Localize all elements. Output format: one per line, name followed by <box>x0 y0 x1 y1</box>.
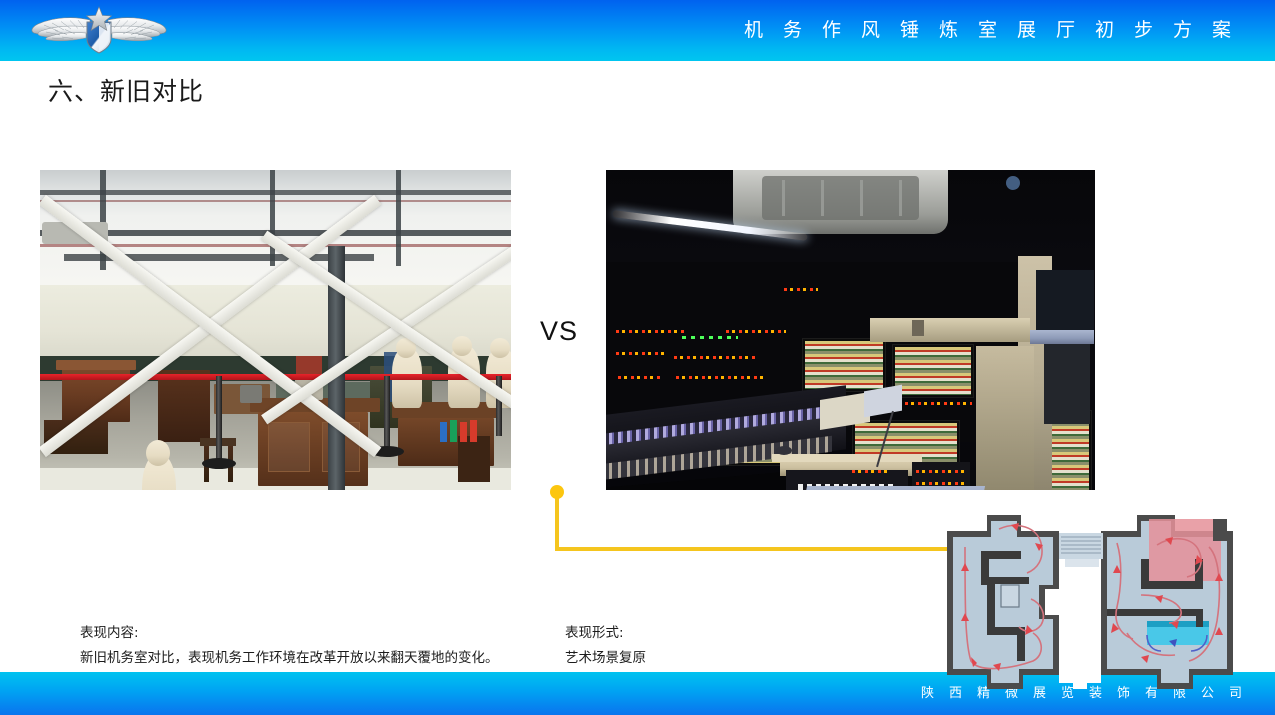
panel-led-row <box>916 482 966 485</box>
rack-led-row <box>616 330 686 333</box>
ceiling-vent <box>762 176 918 220</box>
inner-room <box>1001 585 1019 607</box>
vent-slat <box>782 180 785 216</box>
statue-head <box>490 338 510 358</box>
vs-label: VS <box>540 316 578 347</box>
vent-slat <box>860 180 863 216</box>
operator-desk-surface <box>797 486 985 490</box>
aviation-wings-badge-icon <box>28 6 170 56</box>
room-partition <box>976 346 1034 490</box>
ceiling-beam <box>40 200 511 202</box>
exhibition-floorplan <box>941 503 1261 695</box>
wall-ledge <box>870 318 1030 342</box>
header-title: 机务作风锤炼室展厅初步方案 <box>724 0 1251 61</box>
old-maintenance-room-photo <box>40 170 511 490</box>
panel-led-row <box>852 470 888 473</box>
side-desk-top <box>1030 330 1094 344</box>
rack-led-row <box>618 376 662 379</box>
panel-led-row <box>916 470 966 473</box>
wall-dome-camera <box>1006 176 1020 190</box>
statue-head <box>146 440 170 466</box>
ceiling-beam <box>40 190 511 195</box>
chair <box>458 436 490 482</box>
bottle <box>450 420 457 442</box>
side-desk-body <box>1044 344 1090 424</box>
new-maintenance-room-photo <box>606 170 1095 490</box>
stanchion-post <box>216 376 222 462</box>
ceiling-beam <box>40 230 511 236</box>
rack-led-row <box>784 288 818 291</box>
stanchion-base <box>202 458 236 469</box>
caption-content-heading: 表现内容: <box>80 621 499 646</box>
wall-monitor <box>802 338 886 392</box>
statue-head <box>452 336 472 356</box>
caption-content-body: 新旧机务室对比，表现机务工作环境在改革开放以来翻天覆地的变化。 <box>80 646 499 671</box>
ceiling-post <box>270 170 275 266</box>
rack-led-row <box>676 376 764 379</box>
desk-edge <box>772 454 922 462</box>
desk-grommet <box>776 446 792 455</box>
furniture-wardrobe <box>158 370 210 442</box>
slide-canvas: 机务作风锤炼室展厅初步方案 六、新旧对比 <box>0 0 1275 715</box>
caption-form-body: 艺术场景复原 <box>565 646 646 671</box>
rack-led-row <box>616 352 666 355</box>
rack-led-row <box>726 330 786 333</box>
caption-form: 表现形式: 艺术场景复原 <box>565 621 646 671</box>
wall-monitor <box>892 344 974 398</box>
rack-led-row <box>682 336 738 339</box>
stanchion-post <box>384 376 390 450</box>
bottle <box>460 422 467 442</box>
header-bar: 机务作风锤炼室展厅初步方案 <box>0 0 1275 61</box>
vent-slat <box>899 180 902 216</box>
ceiling-post <box>396 170 401 266</box>
vent-slat <box>821 180 824 216</box>
desk-drawer <box>268 422 310 472</box>
monitor-led-row <box>892 402 972 405</box>
caption-content: 表现内容: 新旧机务室对比，表现机务工作环境在改革开放以来翻天覆地的变化。 <box>80 621 499 671</box>
caption-form-heading: 表现形式: <box>565 621 646 646</box>
desk-object <box>240 385 262 403</box>
bottle <box>470 420 477 442</box>
window-dark <box>1036 270 1094 334</box>
bottle <box>440 422 447 442</box>
wall-sign <box>912 320 924 336</box>
furniture-top <box>56 360 136 370</box>
highlight-room <box>1149 519 1221 581</box>
page-title: 六、新旧对比 <box>48 72 204 108</box>
rack-led-row <box>674 356 758 359</box>
